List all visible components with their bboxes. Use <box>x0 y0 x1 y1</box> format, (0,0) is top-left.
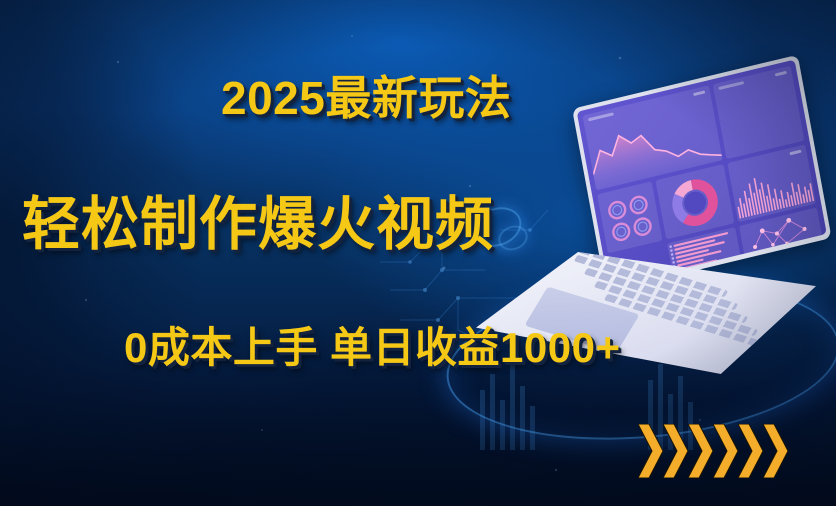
chevron-right-icon <box>713 424 739 478</box>
headline-line-3: 0成本上手 单日收益1000+ <box>124 314 621 375</box>
chevron-right-icon <box>688 424 714 478</box>
chevron-right-icon <box>663 424 689 478</box>
chevron-right-icon <box>638 424 664 478</box>
chevron-right-icon <box>738 424 764 478</box>
chevron-arrow-group <box>638 424 798 478</box>
chevron-right-icon <box>763 424 789 478</box>
headline-line-2: 轻松制作爆火视频 <box>22 177 494 261</box>
headline-line-1: 2025最新玩法 <box>221 62 511 128</box>
promo-poster: 2025最新玩法 轻松制作爆火视频 0成本上手 单日收益1000+ <box>0 0 836 506</box>
